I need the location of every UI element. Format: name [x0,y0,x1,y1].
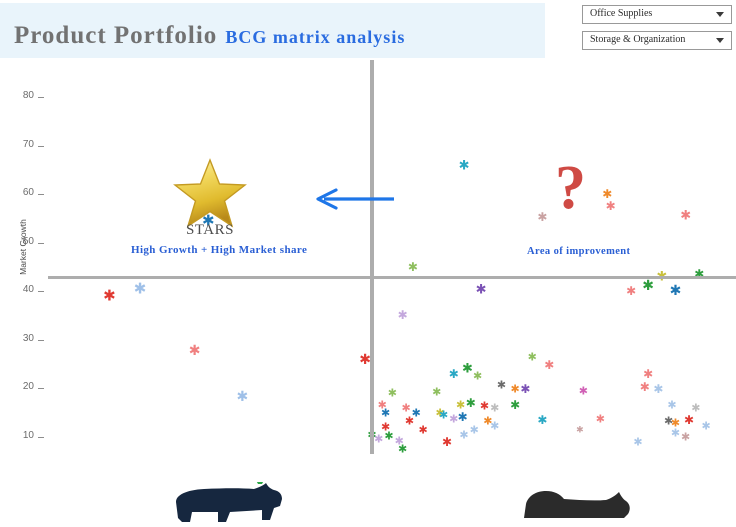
data-point-marker[interactable]: ✱ [633,436,642,447]
data-point-marker[interactable]: ✱ [520,383,530,395]
data-point-marker[interactable]: ✱ [680,210,691,223]
data-point-marker[interactable]: ✱ [398,309,408,321]
improvement-label: Area of improvement [527,246,630,257]
data-point-marker[interactable]: ✱ [579,385,588,396]
category-dropdown-value: Office Supplies [590,8,652,19]
data-point-marker[interactable]: ✱ [405,416,414,427]
quadrant-vertical-divider [370,60,374,454]
y-axis-title: Market Growth [18,202,28,292]
left-arrow-icon [310,188,394,215]
y-axis-tick-mark [38,291,44,292]
data-point-marker[interactable]: ✱ [476,284,487,297]
y-axis-tick-mark [38,340,44,341]
data-point-marker[interactable]: ✱ [459,159,470,172]
bcg-matrix-page: Product PortfolioBCG matrix analysis Off… [0,0,736,454]
title-subtitle: BCG matrix analysis [225,27,405,47]
y-axis-tick-mark [38,146,44,147]
data-point-marker[interactable]: ✱ [449,368,459,380]
stars-quadrant-sublabel: High Growth + High Market share [131,244,307,256]
data-point-marker[interactable]: ✱ [473,371,482,382]
data-point-marker[interactable]: ✱ [537,211,547,223]
y-axis-tick-mark [38,388,44,389]
data-point-marker[interactable]: ✱ [374,434,383,445]
data-point-marker[interactable]: ✱ [408,261,418,273]
data-point-marker[interactable]: ✱ [490,402,499,413]
cash-cow-icon [170,482,320,527]
y-axis-tick-mark [38,243,44,244]
page-title: Product PortfolioBCG matrix analysis [14,22,405,50]
data-point-marker[interactable]: ✱ [432,387,441,398]
stars-quadrant-label: STARS [186,222,234,239]
data-point-marker[interactable]: ✱ [490,421,499,432]
data-point-marker[interactable]: ✱ [606,200,616,212]
data-point-marker[interactable]: ✱ [497,379,506,390]
data-point-marker[interactable]: ✱ [642,279,654,293]
data-point-marker[interactable]: ✱ [401,402,410,413]
data-point-marker[interactable]: ✱ [671,428,680,439]
subcategory-dropdown[interactable]: Storage & Organization [582,31,732,50]
data-point-marker[interactable]: ✱ [576,427,584,436]
data-point-marker[interactable]: ✱ [418,424,427,435]
data-point-marker[interactable]: ✱ [537,414,547,426]
data-point-marker[interactable]: ✱ [653,383,663,395]
data-point-marker[interactable]: ✱ [528,351,537,362]
chevron-down-icon [716,38,724,43]
y-axis-tick-label: 40 [8,284,34,295]
data-point-marker[interactable]: ✱ [640,381,650,393]
quadrant-horizontal-divider [48,276,736,279]
y-axis-tick-label: 20 [8,381,34,392]
question-mark-icon: ? [555,157,586,219]
data-point-marker[interactable]: ✱ [643,368,653,380]
data-point-marker[interactable]: ✱ [511,384,520,395]
data-point-marker[interactable]: ✱ [480,401,489,412]
title-main: Product Portfolio [14,22,217,49]
data-point-marker[interactable]: ✱ [470,424,479,435]
data-point-marker[interactable]: ✱ [189,344,201,358]
data-point-marker[interactable]: ✱ [596,413,605,424]
data-point-marker[interactable]: ✱ [439,410,448,421]
data-point-marker[interactable]: ✱ [462,363,473,376]
subcategory-dropdown-value: Storage & Organization [590,34,685,45]
data-point-marker[interactable]: ✱ [381,407,390,418]
y-axis-tick-label: 80 [8,90,34,101]
data-point-marker[interactable]: ✱ [381,422,390,433]
y-axis-tick-mark [38,194,44,195]
data-point-marker[interactable]: ✱ [398,444,407,455]
data-point-marker[interactable]: ✱ [670,284,682,298]
data-point-marker[interactable]: ✱ [626,285,636,297]
data-point-marker[interactable]: ✱ [388,388,397,399]
data-point-marker[interactable]: ✱ [681,432,690,443]
data-point-marker[interactable]: ✱ [458,411,468,423]
data-point-marker[interactable]: ✱ [691,402,700,413]
y-axis-tick-label: 30 [8,333,34,344]
data-point-marker[interactable]: ✱ [134,281,147,296]
data-point-marker[interactable]: ✱ [510,399,520,411]
data-point-marker[interactable]: ✱ [602,188,612,200]
y-axis-tick-label: 10 [8,430,34,441]
data-point-marker[interactable]: ✱ [103,289,116,304]
scatter-plot: Market Growth 1020304050607080 ✱✱✱✱✱✱✱✱✱… [0,58,736,454]
y-axis-tick-mark [38,97,44,98]
dog-icon [520,488,640,523]
data-point-marker[interactable]: ✱ [466,397,476,409]
category-dropdown[interactable]: Office Supplies [582,5,732,24]
data-point-marker[interactable]: ✱ [684,414,694,426]
data-point-marker[interactable]: ✱ [702,421,711,432]
data-point-marker[interactable]: ✱ [667,400,676,411]
data-point-marker[interactable]: ✱ [544,359,554,371]
y-axis-tick-label: 50 [8,236,34,247]
data-point-marker[interactable]: ✱ [459,429,468,440]
y-axis-tick-label: 60 [8,187,34,198]
data-point-marker[interactable]: ✱ [442,436,452,448]
chevron-down-icon [716,12,724,17]
y-axis-tick-label: 70 [8,139,34,150]
data-point-marker[interactable]: ✱ [236,390,248,404]
y-axis-tick-mark [38,437,44,438]
